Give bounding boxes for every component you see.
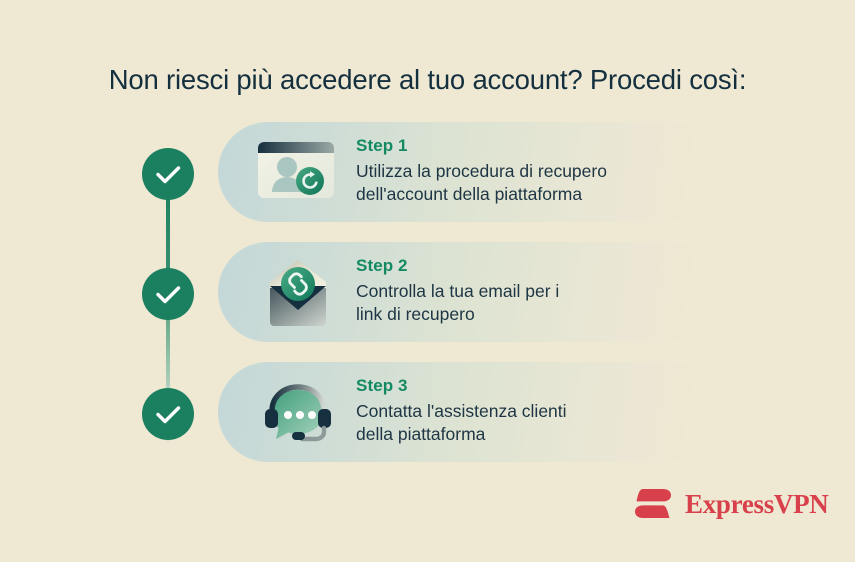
email-link-envelope-icon (250, 254, 346, 330)
step-3-text-block: Step 3 Contatta l'assistenza clienti del… (356, 376, 698, 446)
check-icon (142, 148, 194, 200)
account-recovery-window-icon (250, 134, 346, 210)
expressvpn-wordmark: ExpressVPN (685, 491, 829, 518)
step-1-description-line-1: Utilizza la procedura di recupero (356, 160, 698, 183)
support-headset-chat-icon (250, 374, 346, 450)
step-3-check-node (142, 388, 194, 440)
step-3-description: Contatta l'assistenza clienti della piat… (356, 400, 698, 446)
page-title: Non riesci più accedere al tuo account? … (0, 64, 855, 96)
step-2-description-line-2: link di recupero (356, 303, 698, 326)
step-1-label: Step 1 (356, 136, 698, 156)
step-1-description: Utilizza la procedura di recupero dell'a… (356, 160, 698, 206)
step-card-2: Step 2 Controlla la tua email per i link… (218, 242, 716, 342)
step-card-3: Step 3 Contatta l'assistenza clienti del… (218, 362, 716, 462)
expressvpn-e-mark-icon (630, 487, 676, 521)
steps-timeline (142, 148, 194, 448)
step-2-description-line-1: Controlla la tua email per i (356, 280, 698, 303)
step-1-description-line-2: dell'account della piattaforma (356, 183, 698, 206)
step-3-description-line-2: della piattaforma (356, 423, 698, 446)
step-1-check-node (142, 148, 194, 200)
step-2-check-node (142, 268, 194, 320)
check-icon (142, 268, 194, 320)
step-1-text-block: Step 1 Utilizza la procedura di recupero… (356, 136, 698, 206)
step-3-label: Step 3 (356, 376, 698, 396)
step-2-description: Controlla la tua email per i link di rec… (356, 280, 698, 326)
expressvpn-logo: ExpressVPN (630, 484, 829, 524)
infographic-canvas: Non riesci più accedere al tuo account? … (0, 0, 855, 562)
check-icon (142, 388, 194, 440)
step-2-text-block: Step 2 Controlla la tua email per i link… (356, 256, 698, 326)
step-2-label: Step 2 (356, 256, 698, 276)
step-3-description-line-1: Contatta l'assistenza clienti (356, 400, 698, 423)
step-card-1: Step 1 Utilizza la procedura di recupero… (218, 122, 716, 222)
